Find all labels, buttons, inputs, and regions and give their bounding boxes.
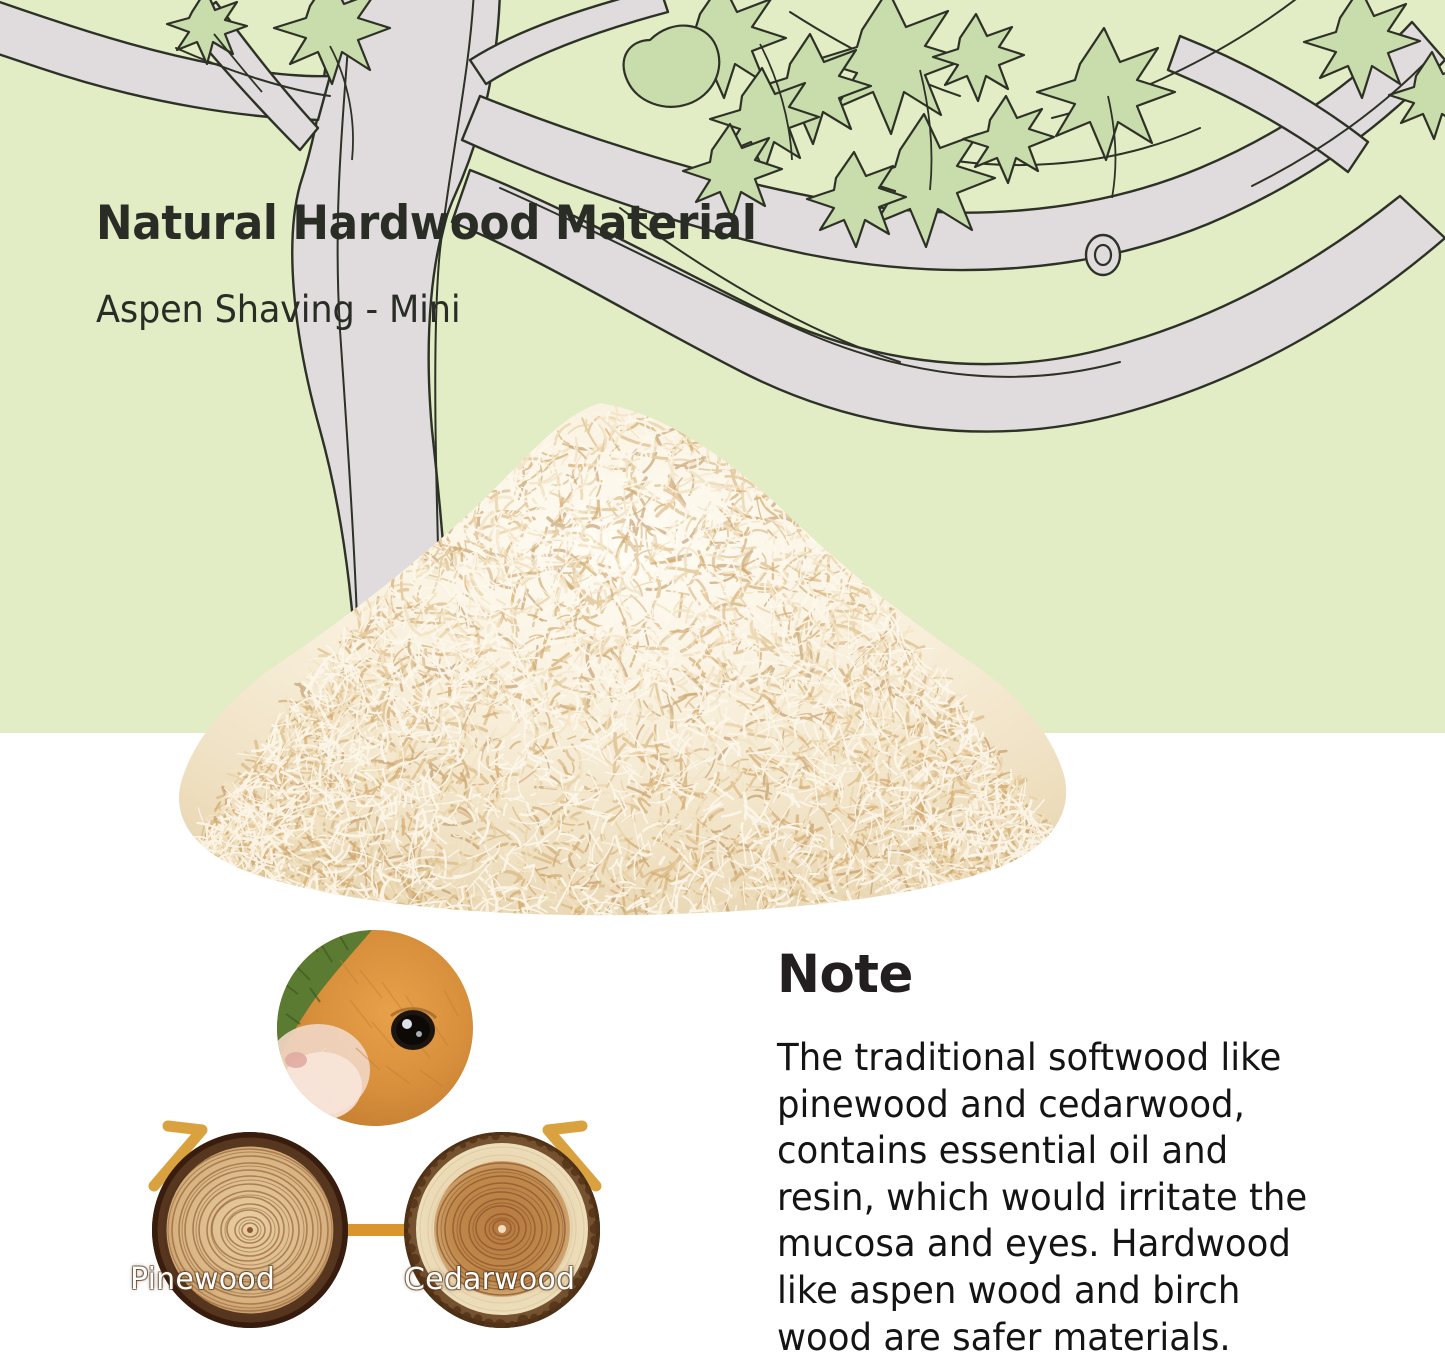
- page-title: Natural Hardwood Material: [96, 196, 756, 251]
- hamster-photo: [266, 930, 473, 1126]
- note-body: The traditional softwood like pinewood a…: [777, 1035, 1315, 1361]
- wood-comparison-diagram: Pinewood Cedarwood: [110, 930, 650, 1370]
- page-subtitle: Aspen Shaving - Mini: [96, 288, 460, 331]
- pinewood-slice: [152, 1132, 348, 1328]
- bottom-section: Pinewood Cedarwood Note The traditional …: [0, 930, 1445, 1370]
- product-infographic: Natural Hardwood Material Aspen Shaving …: [0, 0, 1445, 1370]
- note-block: Note The traditional softwood like pinew…: [777, 948, 1337, 1361]
- note-heading: Note: [777, 948, 1320, 1001]
- aspen-shavings-pile: [120, 395, 1130, 930]
- branch-knot: [1086, 235, 1120, 275]
